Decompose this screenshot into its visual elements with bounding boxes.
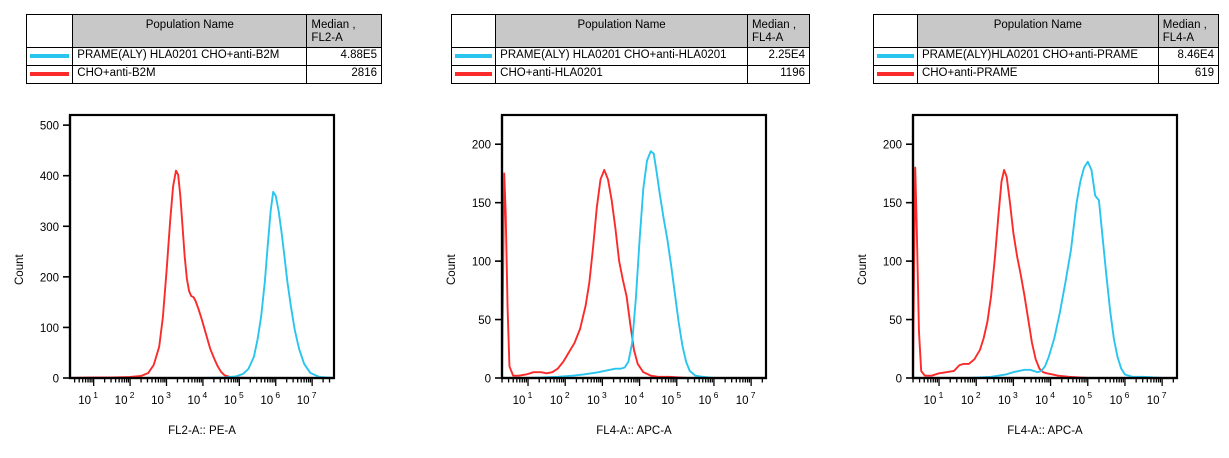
x-tick-label: 104 <box>1035 390 1055 407</box>
legend-table-b2m: Population Name Median , FL2-A PRAME(ALY… <box>26 14 382 84</box>
legend-median-value: 1196 <box>747 66 809 84</box>
legend-row: PRAME(ALY) HLA0201 CHO+anti-HLA0201 2.25… <box>452 48 810 66</box>
x-tick-label: 107 <box>1147 390 1167 407</box>
legend-swatch-red <box>30 72 69 76</box>
legend-row: CHO+anti-HLA0201 1196 <box>452 66 810 84</box>
legend-table-hla0201: Population Name Median , FL4-A PRAME(ALY… <box>451 14 810 84</box>
svg-text:10: 10 <box>188 395 201 407</box>
y-tick-label: 0 <box>485 374 491 386</box>
x-tick-label: 106 <box>260 390 280 407</box>
legend-header-row: Population Name Median , FL2-A <box>27 15 382 48</box>
y-tick-label: 400 <box>40 171 59 183</box>
plot-frame <box>70 115 334 378</box>
svg-text:2: 2 <box>976 390 981 400</box>
legend-population-name: PRAME(ALY) HLA0201 CHO+anti-HLA0201 <box>496 48 748 66</box>
legend-header-row: Population Name Median , FL4-A <box>452 15 810 48</box>
x-tick-label: 106 <box>699 390 719 407</box>
legend-row: CHO+anti-B2M 2816 <box>27 66 382 84</box>
svg-text:10: 10 <box>115 395 128 407</box>
x-tick-label: 101 <box>78 390 98 407</box>
x-tick-label: 105 <box>224 390 244 407</box>
x-tick-label: 102 <box>550 390 570 407</box>
x-axis-label-hla0201: FL4-A:: APC-A <box>502 425 766 437</box>
svg-text:10: 10 <box>1147 395 1160 407</box>
x-tick-label: 103 <box>151 390 171 407</box>
svg-text:10: 10 <box>151 395 164 407</box>
y-tick-label: 0 <box>53 374 59 386</box>
svg-text:10: 10 <box>661 395 674 407</box>
legend-header-population-name: Population Name <box>73 15 307 48</box>
histogram-b2m: 0100200300400500101102103104105106107 <box>28 108 358 408</box>
histogram-svg-hla0201: 050100150200101102103104105106107 <box>460 108 790 408</box>
y-tick-label: 50 <box>889 315 902 327</box>
y-tick-label: 100 <box>883 257 902 269</box>
legend-population-name: PRAME(ALY) HLA0201 CHO+anti-B2M <box>73 48 307 66</box>
y-tick-label: 200 <box>40 272 59 284</box>
legend-population-name: CHO+anti-PRAME <box>917 66 1158 84</box>
svg-text:10: 10 <box>513 395 526 407</box>
legend-median-value: 8.46E4 <box>1158 48 1218 66</box>
x-tick-label: 107 <box>297 390 317 407</box>
svg-text:6: 6 <box>1125 390 1130 400</box>
svg-text:10: 10 <box>1110 395 1123 407</box>
histogram-prame: 050100150200101102103104105106107 <box>871 108 1201 408</box>
y-axis-label-hla0201: Count <box>446 254 458 285</box>
svg-text:10: 10 <box>1035 395 1048 407</box>
x-tick-label: 103 <box>587 390 607 407</box>
svg-text:10: 10 <box>736 395 749 407</box>
x-axis-label-prame: FL4-A:: APC-A <box>913 425 1177 437</box>
legend-header-median: Median , FL4-A <box>1158 15 1218 48</box>
x-tick-label: 104 <box>624 390 644 407</box>
svg-text:5: 5 <box>676 390 681 400</box>
svg-text:4: 4 <box>203 390 208 400</box>
legend-header-median: Median , FL4-A <box>747 15 809 48</box>
legend-header-population-name: Population Name <box>917 15 1158 48</box>
legend-median-value: 619 <box>1158 66 1218 84</box>
histogram-svg-b2m: 0100200300400500101102103104105106107 <box>28 108 358 408</box>
y-tick-label: 500 <box>40 121 59 133</box>
legend-header-swatch <box>452 15 496 48</box>
svg-text:7: 7 <box>312 390 317 400</box>
legend-row: PRAME(ALY)HLA0201 CHO+anti-PRAME 8.46E4 <box>874 48 1219 66</box>
svg-text:4: 4 <box>1050 390 1055 400</box>
svg-text:1: 1 <box>939 390 944 400</box>
x-tick-label: 105 <box>661 390 681 407</box>
svg-text:10: 10 <box>587 395 600 407</box>
y-tick-label: 100 <box>472 257 491 269</box>
legend-header-population-name: Population Name <box>496 15 748 48</box>
legend-header-row: Population Name Median , FL4-A <box>874 15 1219 48</box>
legend-header-swatch <box>27 15 73 48</box>
svg-text:5: 5 <box>1087 390 1092 400</box>
histogram-hla0201: 050100150200101102103104105106107 <box>460 108 790 408</box>
x-tick-label: 107 <box>736 390 756 407</box>
panel-b2m: Population Name Median , FL2-A PRAME(ALY… <box>0 0 410 458</box>
legend-population-name: CHO+anti-B2M <box>73 66 307 84</box>
legend-row: PRAME(ALY) HLA0201 CHO+anti-B2M 4.88E5 <box>27 48 382 66</box>
legend-row: CHO+anti-PRAME 619 <box>874 66 1219 84</box>
panel-prame: Population Name Median , FL4-A PRAME(ALY… <box>835 0 1229 458</box>
svg-text:10: 10 <box>624 395 637 407</box>
y-tick-label: 200 <box>883 140 902 152</box>
svg-text:10: 10 <box>224 395 237 407</box>
legend-swatch-red <box>455 72 492 76</box>
svg-text:10: 10 <box>924 395 937 407</box>
x-tick-label: 102 <box>961 390 981 407</box>
svg-text:3: 3 <box>166 390 171 400</box>
svg-text:5: 5 <box>239 390 244 400</box>
x-tick-label: 106 <box>1110 390 1130 407</box>
histogram-svg-prame: 050100150200101102103104105106107 <box>871 108 1201 408</box>
svg-text:10: 10 <box>961 395 974 407</box>
svg-text:10: 10 <box>78 395 91 407</box>
svg-text:1: 1 <box>93 390 98 400</box>
legend-header-swatch <box>874 15 918 48</box>
svg-text:3: 3 <box>1013 390 1018 400</box>
legend-population-name: CHO+anti-HLA0201 <box>496 66 748 84</box>
legend-header-median: Median , FL2-A <box>307 15 382 48</box>
y-tick-label: 100 <box>40 323 59 335</box>
x-axis-label-b2m: FL2-A:: PE-A <box>70 425 334 437</box>
legend-median-value: 2.25E4 <box>747 48 809 66</box>
svg-text:3: 3 <box>602 390 607 400</box>
y-tick-label: 50 <box>478 315 491 327</box>
svg-text:4: 4 <box>639 390 644 400</box>
legend-table-prame: Population Name Median , FL4-A PRAME(ALY… <box>873 14 1219 84</box>
svg-text:10: 10 <box>699 395 712 407</box>
y-axis-label-b2m: Count <box>14 254 26 285</box>
legend-color-swatch-cell <box>452 66 496 84</box>
svg-text:1: 1 <box>528 390 533 400</box>
svg-text:2: 2 <box>565 390 570 400</box>
svg-text:10: 10 <box>550 395 563 407</box>
legend-swatch-red <box>877 72 914 76</box>
plot-frame <box>913 115 1177 378</box>
legend-color-swatch-cell <box>27 66 73 84</box>
svg-text:10: 10 <box>297 395 310 407</box>
x-tick-label: 103 <box>998 390 1018 407</box>
y-tick-label: 150 <box>472 198 491 210</box>
x-tick-label: 104 <box>188 390 208 407</box>
legend-swatch-cyan <box>30 54 69 58</box>
y-tick-label: 300 <box>40 222 59 234</box>
legend-swatch-cyan <box>877 54 914 58</box>
svg-text:6: 6 <box>275 390 280 400</box>
svg-text:10: 10 <box>260 395 273 407</box>
legend-color-swatch-cell <box>874 48 918 66</box>
x-tick-label: 101 <box>513 390 533 407</box>
legend-color-swatch-cell <box>27 48 73 66</box>
y-tick-label: 150 <box>883 198 902 210</box>
y-tick-label: 0 <box>896 374 902 386</box>
svg-text:7: 7 <box>751 390 756 400</box>
x-tick-label: 102 <box>115 390 135 407</box>
plot-frame <box>502 115 766 378</box>
legend-swatch-cyan <box>455 54 492 58</box>
legend-median-value: 2816 <box>307 66 382 84</box>
svg-text:7: 7 <box>1162 390 1167 400</box>
svg-text:10: 10 <box>1072 395 1085 407</box>
x-tick-label: 105 <box>1072 390 1092 407</box>
svg-text:10: 10 <box>998 395 1011 407</box>
legend-median-value: 4.88E5 <box>307 48 382 66</box>
legend-color-swatch-cell <box>452 48 496 66</box>
legend-population-name: PRAME(ALY)HLA0201 CHO+anti-PRAME <box>917 48 1158 66</box>
svg-text:6: 6 <box>714 390 719 400</box>
svg-text:2: 2 <box>130 390 135 400</box>
y-axis-label-prame: Count <box>857 254 869 285</box>
y-tick-label: 200 <box>472 140 491 152</box>
x-tick-label: 101 <box>924 390 944 407</box>
legend-color-swatch-cell <box>874 66 918 84</box>
panel-hla0201: Population Name Median , FL4-A PRAME(ALY… <box>410 0 835 458</box>
